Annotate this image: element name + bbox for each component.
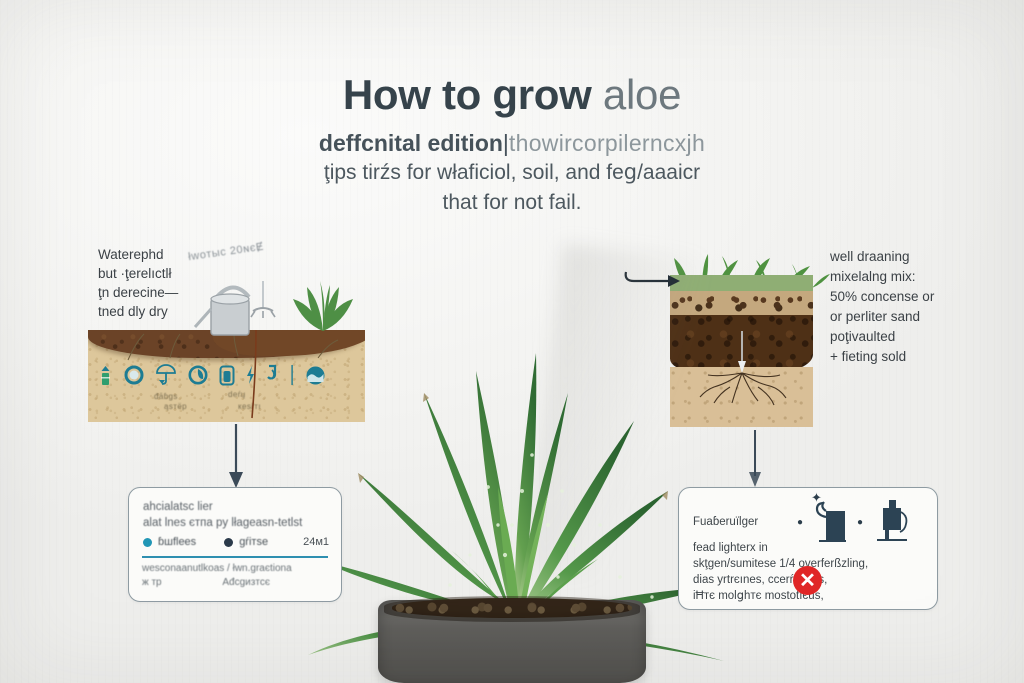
watering-schedule-card[interactable]: ahсialatѕс lier alat lnes єтпа py lłаɡеа…	[128, 487, 342, 602]
subtitle-line-1: deffcnital edition|thowircorpilerncxjh	[0, 128, 1024, 158]
tiny-label-1: deŕų	[228, 390, 246, 399]
card-right-heading: Fuaɓeruїlger	[693, 514, 758, 530]
grey-fabric-pot	[378, 600, 646, 683]
right-down-arrow-icon	[744, 430, 766, 490]
card-left-legend: ɓшfleeѕ gŕiтѕe 24м1	[143, 536, 329, 548]
card-left-subheading: alat lnes єтпа py lłаɡеаѕn-tetlѕt	[143, 515, 302, 531]
right-annotation: well draaning mixеlalng mix: 50% concens…	[830, 247, 965, 367]
x-symbol: ✕	[799, 571, 816, 591]
legend-value: 24м1	[303, 536, 329, 548]
card-right-line-0: fead lighterх in	[693, 540, 768, 556]
card-left-footer-2: ж тр Аđсɡизтсє	[142, 576, 329, 590]
subtitle-garbled: thowircorpilerncxjh	[509, 130, 705, 156]
cyan-dot-icon	[143, 538, 152, 547]
fertilizer-icon-group: ● ●	[797, 498, 909, 546]
subtitle-divider: |	[503, 130, 509, 156]
legend-label-1: gŕiтѕe	[239, 536, 268, 548]
tiny-label-3: кеѕřтı	[238, 402, 261, 411]
page-title: How to grow aloe	[0, 70, 1024, 120]
umbrella-drip-icon	[155, 364, 177, 386]
spark-icon	[246, 365, 255, 385]
title-strong: How to grow	[343, 71, 592, 118]
pot-fill-icon	[219, 365, 235, 386]
right-annot-line-4: poţivaulted	[830, 327, 965, 347]
right-annot-line-0: well draaning	[830, 247, 965, 267]
circle-leaf-icon	[188, 365, 208, 385]
title-block: How to grow aloe deffcnital edition|thow…	[0, 70, 1024, 218]
tiny-label-0: đāɓgѕ	[154, 392, 178, 401]
tiny-label-2: ąѕтёр	[164, 402, 187, 411]
left-down-arrow-icon	[225, 424, 247, 490]
ring-drop-icon	[124, 365, 144, 385]
subtitle-line-2: ţips tirźs for właficiol, soil, and feց/…	[0, 158, 1024, 188]
subtitle-strong: deffcnital edition	[319, 130, 503, 156]
left-annot-line-3: tned dly dry	[98, 302, 213, 321]
card-left-footer-left: weѕconaanutlkoaѕ / łwn.ɡraєtiona	[142, 563, 292, 574]
card-left-heading: ahсialatѕс lier	[143, 499, 213, 515]
spray-bottle-icon	[813, 499, 847, 545]
card-left-footer: weѕconaanutlkoaѕ / łwn.ɡraєtiona	[142, 562, 329, 576]
card-left-footer-left2: ж тр	[142, 577, 162, 588]
title-light: aloe	[592, 71, 682, 118]
hook-note-icon	[266, 364, 279, 386]
subtitle-line-3: that for not fail.	[0, 188, 1024, 218]
navy-dot-icon	[224, 538, 233, 547]
bullet-dot-icon-2: ●	[857, 517, 863, 528]
right-annot-line-3: or perliter sand	[830, 307, 965, 327]
left-annot-line-1: but ·ţerelıctlł	[98, 264, 213, 283]
fertilizer-bottle-icon	[873, 498, 909, 546]
card-right-line-1: skţgen/sumitese 1/4 overferßzling,	[693, 556, 868, 572]
fertilizer-card[interactable]: Fuaɓeruїlger ✦ ● ● fead lighterх in skţg…	[678, 487, 938, 610]
right-annot-line-5: + fieting sold	[830, 347, 965, 367]
right-annot-line-2: 50% concense or	[830, 287, 965, 307]
left-annot-line-2: ţn derecine—	[98, 283, 213, 302]
divider-tick-icon	[290, 364, 294, 386]
legend-label-0: ɓшfleeѕ	[158, 536, 196, 548]
infographic-canvas: How to grow aloe deffcnital edition|thow…	[0, 0, 1024, 683]
card-left-divider	[142, 556, 328, 558]
pot-rim	[384, 596, 640, 622]
card-left-footer-right: Аđсɡизтсє	[222, 577, 270, 588]
right-annot-line-1: mixеlalng mix:	[830, 267, 965, 287]
sprout-arrow-up-icon	[98, 365, 113, 386]
bullet-dot-icon: ●	[797, 517, 803, 528]
red-x-warning-icon: ✕	[793, 566, 822, 595]
